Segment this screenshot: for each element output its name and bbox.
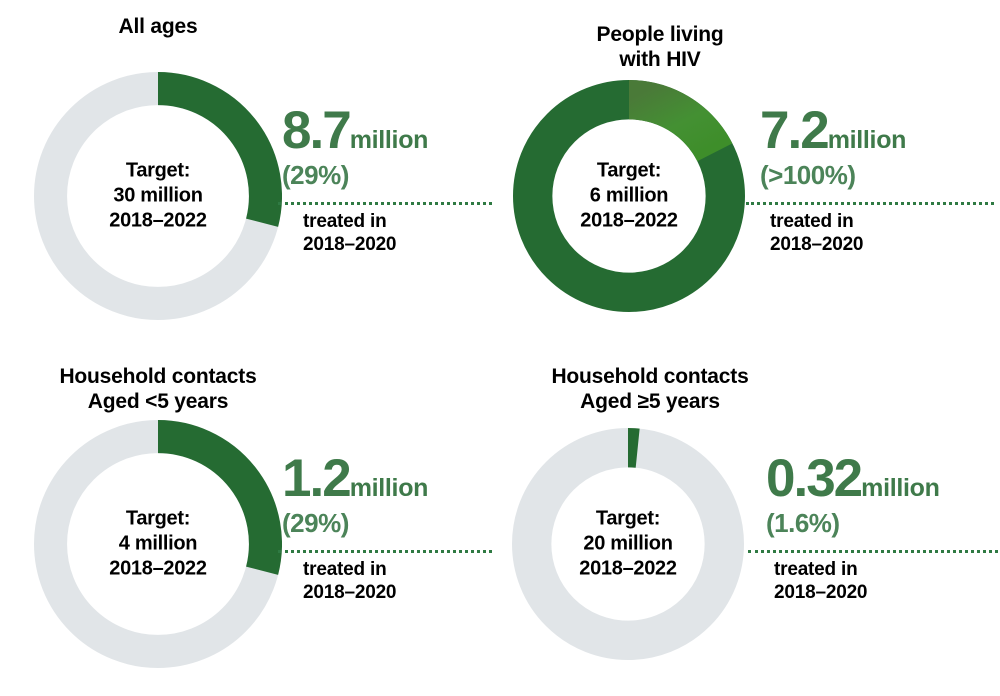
panel-people-living-with-hiv: People living with HIV Target: 6 million… — [470, 0, 1000, 348]
donut-center-label: Target: 30 million 2018–2022 — [34, 159, 282, 234]
value-number: 7.2 — [760, 101, 828, 160]
panel-household-contacts-5-and-over: Household contacts Aged ≥5 years Target:… — [470, 348, 1000, 696]
value-number: 0.32 — [766, 449, 861, 508]
donut-chart-plhiv: Target: 6 million 2018–2022 — [513, 80, 745, 312]
value-callout: 0.32million (1.6%) — [766, 452, 1000, 538]
panel-title: All ages — [8, 14, 308, 39]
value-line: 7.2million — [760, 104, 1000, 157]
donut-center-label: Target: 6 million 2018–2022 — [513, 159, 745, 234]
value-unit: million — [350, 474, 428, 502]
value-unit: million — [828, 126, 906, 154]
panel-all-ages: All ages Target: 30 million 2018–2022 8.… — [0, 0, 500, 348]
donut-center-label: Target: 20 million 2018–2022 — [512, 507, 744, 582]
donut-center-label: Target: 4 million 2018–2022 — [34, 507, 282, 582]
value-line: 8.7million — [282, 104, 497, 157]
value-sub-label: treated in 2018–2020 — [774, 558, 867, 604]
value-unit: million — [861, 474, 939, 502]
panel-title: People living with HIV — [510, 22, 810, 72]
value-percent: (29%) — [282, 161, 497, 190]
value-callout: 7.2million (>100%) — [760, 104, 1000, 190]
donut-chart-contacts-under5: Target: 4 million 2018–2022 — [34, 420, 282, 668]
value-percent: (>100%) — [760, 161, 1000, 190]
value-sub-label: treated in 2018–2020 — [303, 210, 396, 256]
value-unit: million — [350, 126, 428, 154]
donut-value-arc-gradient — [629, 100, 715, 153]
value-line: 1.2million — [282, 452, 497, 505]
panel-household-contacts-under-5: Household contacts Aged <5 years Target:… — [0, 348, 500, 696]
leader-line — [278, 550, 492, 553]
donut-chart-all-ages: Target: 30 million 2018–2022 — [34, 72, 282, 320]
panel-title: Household contacts Aged <5 years — [8, 364, 308, 414]
value-line: 0.32million — [766, 452, 1000, 505]
leader-line — [746, 202, 994, 205]
value-sub-label: treated in 2018–2020 — [770, 210, 863, 256]
leader-line — [748, 550, 998, 553]
value-callout: 1.2million (29%) — [282, 452, 497, 538]
donut-chart-grid: All ages Target: 30 million 2018–2022 8.… — [0, 0, 1000, 696]
leader-line — [278, 202, 492, 205]
value-sub-label: treated in 2018–2020 — [303, 558, 396, 604]
value-number: 1.2 — [282, 449, 350, 508]
value-number: 8.7 — [282, 101, 350, 160]
value-callout: 8.7million (29%) — [282, 104, 497, 190]
panel-title: Household contacts Aged ≥5 years — [500, 364, 800, 414]
value-percent: (1.6%) — [766, 509, 1000, 538]
donut-chart-contacts-over5: Target: 20 million 2018–2022 — [512, 428, 744, 660]
value-percent: (29%) — [282, 509, 497, 538]
